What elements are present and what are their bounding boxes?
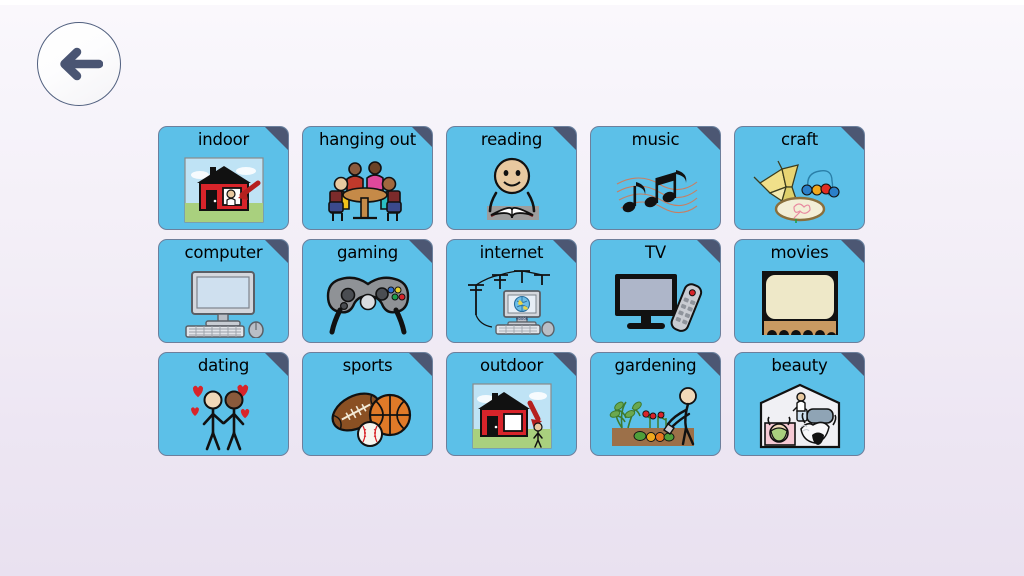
card-sports[interactable]: sports	[302, 352, 433, 456]
card-tv[interactable]: TV	[590, 239, 721, 343]
corner-fold-icon	[264, 126, 289, 151]
music-notes-icon	[590, 150, 721, 229]
activity-grid: indoor	[158, 126, 866, 456]
salon-facial-hairstyling-icon	[734, 376, 865, 455]
card-gardening[interactable]: gardening	[590, 352, 721, 456]
corner-fold-icon	[840, 239, 865, 264]
couple-holding-hands-hearts-icon	[158, 376, 289, 455]
card-movies[interactable]: movies	[734, 239, 865, 343]
football-basketball-baseball-icon	[302, 376, 433, 455]
corner-fold-icon	[552, 239, 577, 264]
card-label: music	[632, 129, 680, 150]
card-label: dating	[198, 355, 249, 376]
corner-fold-icon	[408, 239, 433, 264]
corner-fold-icon	[552, 352, 577, 377]
card-label: outdoor	[480, 355, 543, 376]
computer-network-globe-icon: ebook	[446, 263, 577, 342]
card-computer[interactable]: computer	[158, 239, 289, 343]
corner-fold-icon	[696, 352, 721, 377]
app-root: indoor	[0, 5, 1024, 576]
card-reading[interactable]: reading	[446, 126, 577, 230]
house-with-person-outside-arrow-icon	[446, 376, 577, 455]
card-label: movies	[770, 242, 828, 263]
svg-text:ebook: ebook	[515, 316, 528, 321]
corner-fold-icon	[264, 239, 289, 264]
corner-fold-icon	[696, 126, 721, 151]
card-label: beauty	[771, 355, 827, 376]
card-music[interactable]: music	[590, 126, 721, 230]
card-label: TV	[645, 242, 666, 263]
card-beauty[interactable]: beauty	[734, 352, 865, 456]
back-button[interactable]	[37, 22, 121, 106]
card-label: indoor	[198, 129, 249, 150]
card-label: sports	[343, 355, 393, 376]
card-label: reading	[481, 129, 542, 150]
corner-fold-icon	[408, 352, 433, 377]
card-outdoor[interactable]: outdoor	[446, 352, 577, 456]
game-controller-icon	[302, 263, 433, 342]
card-gaming[interactable]: gaming	[302, 239, 433, 343]
person-digging-garden-icon	[590, 376, 721, 455]
corner-fold-icon	[552, 126, 577, 151]
card-hanging-out[interactable]: hanging out	[302, 126, 433, 230]
desktop-computer-icon	[158, 263, 289, 342]
card-label: gaming	[337, 242, 398, 263]
arrow-left-icon	[55, 44, 103, 84]
person-reading-book-icon	[446, 150, 577, 229]
origami-crane-beads-embroidery-icon	[734, 150, 865, 229]
corner-fold-icon	[840, 126, 865, 151]
card-internet[interactable]: internet	[446, 239, 577, 343]
card-label: computer	[185, 242, 263, 263]
television-remote-icon	[590, 263, 721, 342]
card-dating[interactable]: dating	[158, 352, 289, 456]
card-label: hanging out	[319, 129, 416, 150]
house-with-person-inside-arrow-icon	[158, 150, 289, 229]
card-indoor[interactable]: indoor	[158, 126, 289, 230]
corner-fold-icon	[840, 352, 865, 377]
card-label: gardening	[615, 355, 697, 376]
corner-fold-icon	[264, 352, 289, 377]
card-craft[interactable]: craft	[734, 126, 865, 230]
corner-fold-icon	[696, 239, 721, 264]
people-around-table-icon	[302, 150, 433, 229]
card-label: craft	[781, 129, 818, 150]
cinema-screen-seats-icon	[734, 263, 865, 342]
card-label: internet	[480, 242, 544, 263]
